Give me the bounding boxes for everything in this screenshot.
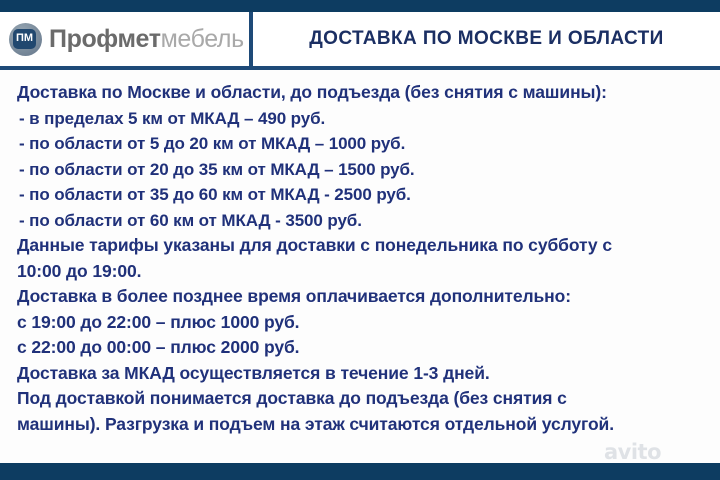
logo-plate-shape: ПМ (13, 29, 36, 49)
company-logo-icon: ПМ (9, 23, 42, 56)
schedule-line-1: Данные тарифы указаны для доставки с пон… (17, 233, 707, 259)
brand-name: Профметмебель (49, 27, 244, 52)
tariff-line: - по области от 5 до 20 км от МКАД – 100… (17, 131, 707, 157)
late-delivery-heading: Доставка в более позднее время оплачивае… (17, 284, 707, 310)
schedule-line-2: 10:00 до 19:00. (17, 259, 707, 285)
delivery-info-banner: ПМ Профметмебель ДОСТАВКА ПО МОСКВЕ И ОБ… (0, 0, 720, 480)
page-title: ДОСТАВКА ПО МОСКВЕ И ОБЛАСТИ (309, 28, 664, 50)
header-title-box: ДОСТАВКА ПО МОСКВЕ И ОБЛАСТИ (253, 12, 720, 70)
brand-name-light: мебель (161, 25, 244, 53)
bottom-accent-bar (0, 463, 720, 480)
tariff-line: - по области от 35 до 60 км от МКАД - 25… (17, 182, 707, 208)
brand-block: ПМ Профметмебель (0, 12, 253, 70)
late-rate-line: с 22:00 до 00:00 – плюс 2000 руб. (17, 335, 707, 361)
mkad-duration-note: Доставка за МКАД осуществляется в течени… (17, 361, 707, 387)
top-accent-bar (0, 0, 720, 12)
definition-line-1: Под доставкой понимается доставка до под… (17, 386, 707, 412)
late-rate-line: с 19:00 до 22:00 – плюс 1000 руб. (17, 310, 707, 336)
avito-watermark: avito (604, 440, 661, 464)
banner-header: ПМ Профметмебель ДОСТАВКА ПО МОСКВЕ И ОБ… (0, 12, 720, 70)
brand-name-bold: Профмет (49, 25, 161, 53)
delivery-terms-text: Доставка по Москве и области, до подъезд… (17, 80, 707, 437)
tariff-line: - в пределах 5 км от МКАД – 490 руб. (17, 106, 707, 132)
tariff-line: - по области от 60 км от МКАД - 3500 руб… (17, 208, 707, 234)
definition-line-2: машины). Разгрузка и подъем на этаж счит… (17, 412, 707, 438)
tariff-line: - по области от 20 до 35 км от МКАД – 15… (17, 157, 707, 183)
logo-initials: ПМ (16, 33, 33, 44)
intro-line: Доставка по Москве и области, до подъезд… (17, 80, 707, 106)
